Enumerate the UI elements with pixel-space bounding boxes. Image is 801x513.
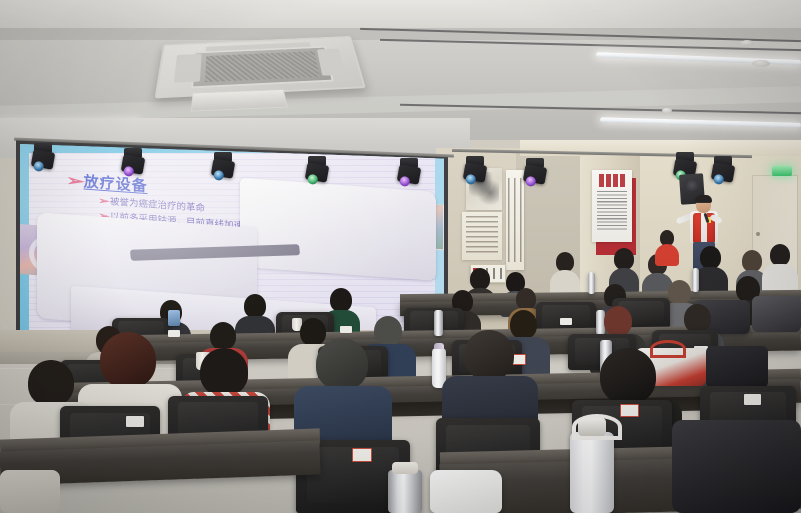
head (614, 248, 634, 270)
head (100, 332, 156, 388)
ceiling-light-strip-1 (596, 52, 801, 65)
stage-light-1 (32, 143, 54, 169)
seat-label-b1 (168, 330, 180, 337)
bullet-arrow-icon: ➢ (66, 171, 86, 190)
head (374, 316, 402, 346)
ac-inner-frame (191, 46, 333, 89)
large-water-bottle (570, 432, 614, 513)
head (510, 310, 537, 339)
light-housing (523, 164, 548, 185)
foreground-light-bag (0, 470, 60, 513)
head (200, 348, 248, 396)
screenshot-root: ➢放疗设备 ➢被誉为癌症治疗的革命 ➢以前多采用钴源，目前直线加速器应用越来越多… (0, 0, 801, 513)
thermos-foreground (388, 470, 422, 513)
head (770, 244, 790, 266)
white-tote-bag (430, 470, 502, 513)
seat-label-d3 (620, 404, 639, 417)
poster-text-block (597, 191, 627, 231)
large-bottle-handle (572, 414, 622, 440)
foreground-jacket (672, 420, 801, 513)
scroll-strokes (508, 178, 523, 262)
calligraphy-strokes (466, 216, 499, 256)
exit-sign (772, 166, 792, 176)
air-conditioner-unit (155, 36, 366, 98)
head (210, 322, 236, 350)
thermos-foreground-cap (392, 462, 418, 474)
head (316, 338, 368, 390)
bullet-arrow-icon: ➢ (98, 196, 110, 208)
stage-light-4 (306, 156, 328, 182)
stage-light-6 (464, 156, 486, 182)
ceiling-rail-2 (380, 39, 801, 51)
door-knob[interactable] (756, 232, 760, 236)
stage-light-9 (712, 156, 734, 182)
ceiling-light-strip-2 (600, 117, 801, 128)
presenter-glasses (697, 202, 710, 206)
info-poster (592, 170, 636, 255)
poster-seal-logo (599, 174, 625, 187)
stage-light-7 (524, 158, 546, 184)
smartphone-raised[interactable] (168, 310, 180, 326)
ac-grille (205, 51, 320, 83)
seat-label-d1 (126, 416, 144, 427)
smoke-detector-1 (740, 40, 754, 46)
smoke-detector-2 (752, 60, 770, 67)
stage-light-5 (398, 158, 420, 184)
light-housing (711, 162, 736, 183)
head (516, 288, 536, 310)
stage-light-3 (212, 152, 234, 178)
head (684, 304, 711, 333)
ceiling-slab (0, 0, 801, 30)
seat-label-d2 (352, 448, 372, 462)
head (300, 318, 326, 346)
head (742, 250, 762, 272)
light-housing (463, 162, 488, 183)
body (655, 244, 679, 266)
head (700, 246, 721, 269)
seat-label-d4 (744, 394, 761, 405)
device-part-top (240, 178, 435, 281)
light-housing (211, 158, 236, 179)
calligraphy-panel (462, 212, 502, 260)
handbag-b2 (752, 296, 801, 332)
seat-label-b3 (560, 318, 572, 325)
ac-vane-right (317, 49, 346, 76)
light-housing (121, 154, 146, 175)
head (244, 294, 266, 318)
light-housing (397, 164, 422, 185)
head (28, 360, 74, 406)
ac-vane-left (173, 54, 201, 82)
stage-light-2 (122, 148, 144, 174)
smoke-detector-3 (662, 108, 672, 113)
seat-label-b2 (340, 326, 352, 333)
light-housing (31, 149, 56, 170)
poster-white-panel (592, 170, 632, 242)
handbag-c1-handle (650, 340, 686, 358)
bottle-cap (434, 343, 444, 349)
thermos-a1 (588, 272, 595, 294)
light-housing (305, 162, 330, 183)
thermos-b1 (434, 310, 443, 336)
hanging-scroll (506, 170, 524, 270)
head (330, 288, 352, 312)
coat-draped-c1 (706, 346, 768, 388)
head (668, 280, 691, 305)
head (556, 252, 574, 272)
head (600, 348, 656, 404)
head (604, 306, 632, 336)
thermos-a2 (692, 268, 699, 292)
head (464, 330, 514, 380)
head (470, 268, 490, 290)
